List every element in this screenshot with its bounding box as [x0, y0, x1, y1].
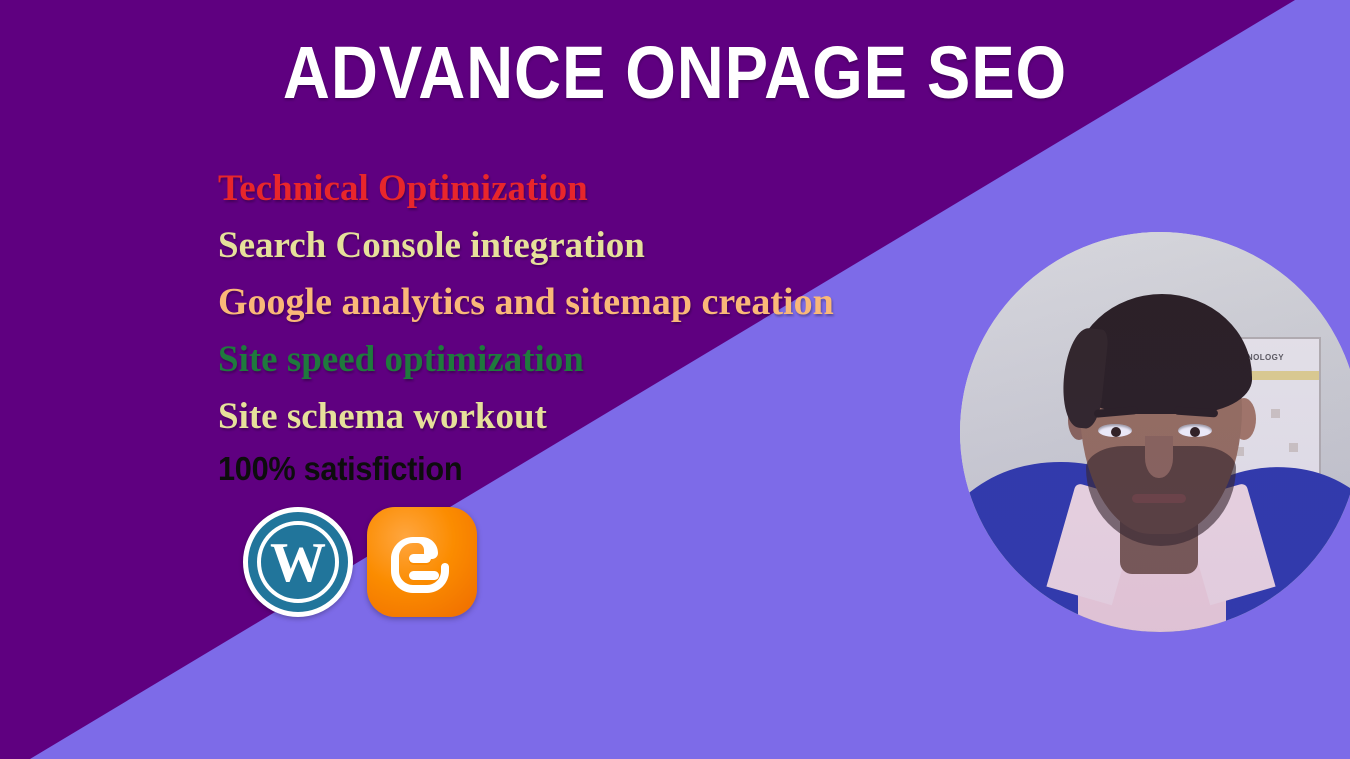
- wordpress-logo-icon: W: [243, 507, 353, 617]
- photo-mouth: [1132, 494, 1186, 503]
- seo-service-banner: ADVANCE ONPAGE SEO Technical Optimizatio…: [0, 0, 1350, 759]
- profile-photo: ER TECHNOLOGY: [960, 232, 1350, 632]
- photo-nose: [1145, 436, 1173, 478]
- svg-text:W: W: [270, 532, 326, 594]
- photo-pupil-right: [1190, 427, 1200, 437]
- poster-cell: [1271, 409, 1280, 418]
- feature-item-technical-optimization: Technical Optimization: [218, 160, 1198, 217]
- photo-pupil-left: [1111, 427, 1121, 437]
- platform-logo-group: W: [243, 507, 477, 617]
- page-title: ADVANCE ONPAGE SEO: [81, 36, 1269, 110]
- poster-cell: [1289, 443, 1298, 452]
- blogger-logo-icon: [367, 507, 477, 617]
